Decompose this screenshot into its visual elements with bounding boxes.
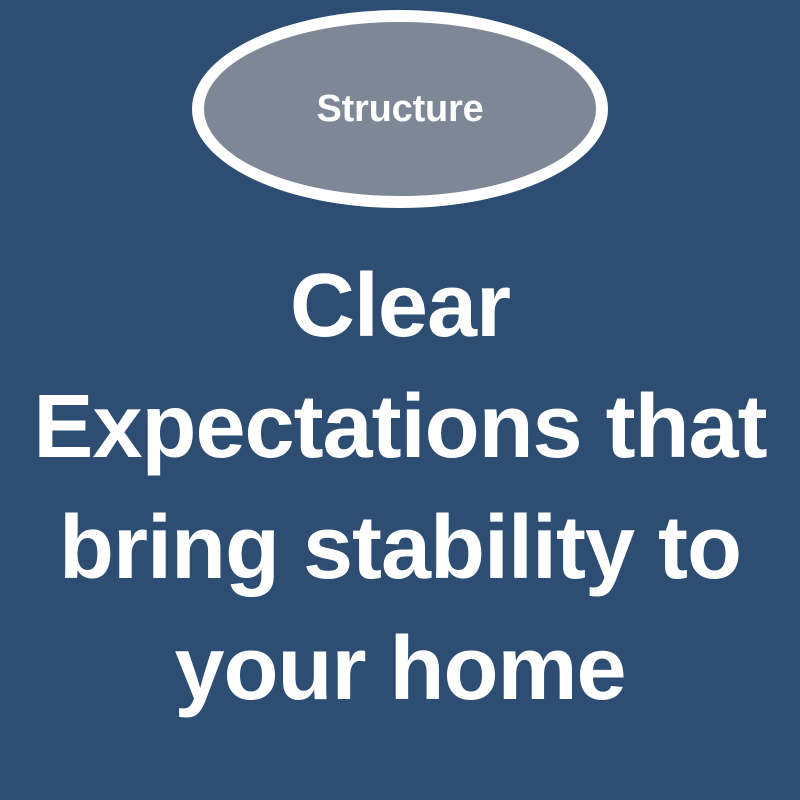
structure-badge-label: Structure [316, 90, 483, 128]
headline-line-3: bring stability to [0, 488, 800, 609]
structure-badge: Structure [192, 10, 608, 208]
headline-line-2: Expectations that [0, 367, 800, 488]
headline: Clear Expectations that bring stability … [0, 246, 800, 730]
headline-line-1: Clear [0, 246, 800, 367]
poster-canvas: Structure Clear Expectations that bring … [0, 0, 800, 800]
headline-line-4: your home [0, 609, 800, 730]
